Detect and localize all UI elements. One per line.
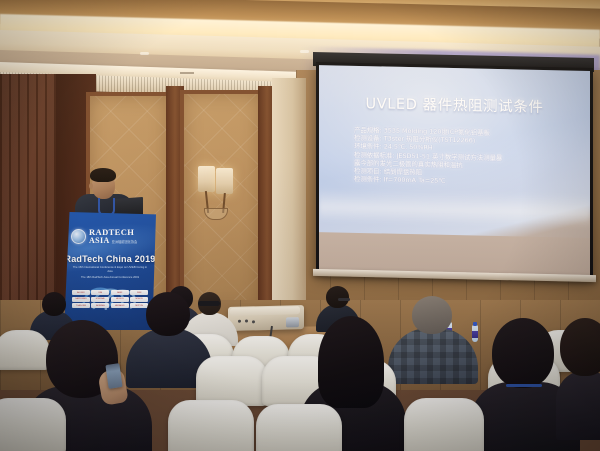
slide-body: 产品规格: 3535 Molding 120度ICP氮化铝基板 检测设备: T3… [354, 126, 569, 188]
lamp-shade-icon [198, 166, 215, 192]
projector [228, 305, 304, 331]
logo-asia-text: ASIA [89, 237, 110, 245]
attendee-head [326, 286, 349, 308]
sponsor-chip: ARKEMA [91, 303, 109, 308]
attendee-head [412, 296, 452, 334]
projector-button [245, 319, 248, 322]
projector-button [238, 320, 241, 323]
chair [196, 356, 268, 406]
attendee-head [560, 318, 600, 376]
chair [0, 398, 66, 451]
chair [256, 404, 342, 451]
screen-sheen [319, 189, 590, 228]
chair [168, 400, 254, 451]
sponsor-chip: IGM [91, 290, 109, 295]
logo-asia-cn-text: 亚洲辐射固化协会 [112, 241, 138, 244]
projection-screen-surface: UVLED 器件热阻测试条件 产品规格: 3535 Molding 120度IC… [319, 65, 590, 277]
slide-title: UVLED 器件热阻测试条件 [319, 91, 590, 118]
attendee-head [42, 292, 66, 316]
wall-pillar [272, 78, 306, 314]
attendee-shoulders [556, 370, 600, 440]
projection-screen: UVLED 器件热阻测试条件 产品规格: 3535 Molding 120度IC… [316, 62, 593, 280]
attendee-head [146, 292, 190, 336]
ceiling-downlight-icon [300, 50, 309, 53]
podium-subtitle-2: The 18th RadTech Asia Annual Conference … [70, 276, 150, 280]
ceiling-vent-icon [180, 72, 194, 74]
projector-top-panel [230, 306, 300, 316]
podium-subtitle-1: The 15th International Conference & Expo… [70, 266, 150, 273]
lamp-shade-icon [216, 168, 233, 194]
attendee-head [492, 318, 554, 388]
ceiling-downlight-icon [140, 52, 149, 55]
radtech-logo: RADTECH ASIA 亚洲辐射固化协会 [71, 228, 151, 245]
wall-dark-wood-left [0, 74, 62, 314]
presenter-ear [89, 183, 93, 189]
chair [404, 398, 484, 451]
globe-icon [71, 229, 86, 244]
sponsor-chip: ETERNAL [91, 297, 109, 302]
presenter-hair [90, 168, 116, 182]
attendee-far-right [556, 318, 600, 438]
conference-hall-photo: UVLED 器件热阻测试条件 产品规格: 3535 Molding 120度IC… [0, 0, 600, 451]
eyeglasses-icon [338, 298, 350, 301]
wall-sconce-lamp [196, 166, 240, 218]
attendee-lanyard [506, 384, 542, 387]
projector-button [252, 320, 255, 323]
podium-event-title: RadTech China 2019 [64, 254, 156, 264]
projector-lens [286, 317, 299, 327]
attendee-head [318, 316, 384, 408]
